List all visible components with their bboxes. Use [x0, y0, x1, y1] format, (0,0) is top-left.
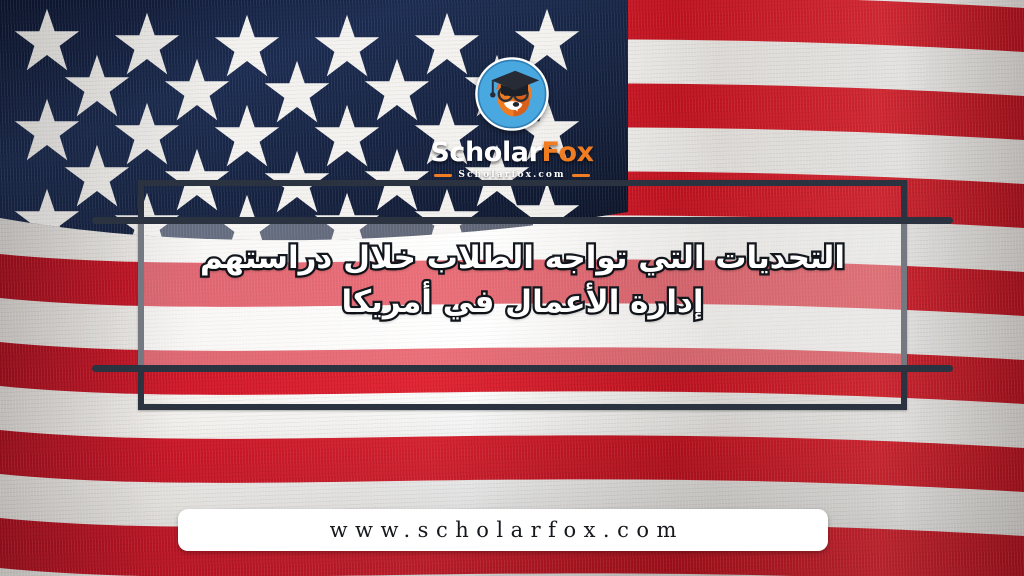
brand-logo[interactable]: ScholarFox Scholarfox.com — [0, 54, 1024, 180]
title-line-2: إدارة الأعمال في أمريكا — [160, 280, 885, 324]
brand-word-scholar: Scholar — [430, 137, 541, 168]
title-line-1: التحديات التي تواجه الطلاب خلال دراستهم — [160, 236, 885, 280]
tagline-text: Scholarfox.com — [458, 170, 565, 180]
frame-rule-top — [92, 217, 953, 224]
brand-wordmark: ScholarFox — [430, 139, 593, 166]
brand-word-fox: Fox — [542, 137, 594, 168]
fox-graduate-icon — [472, 54, 552, 134]
frame-rule-bottom — [92, 365, 953, 372]
website-url-text: www.scholarfox.com — [322, 518, 684, 542]
tagline-dash-left — [434, 174, 452, 177]
tagline-dash-right — [572, 174, 590, 177]
poster-canvas: ScholarFox Scholarfox.com التحديات التي … — [0, 0, 1024, 576]
brand-tagline: Scholarfox.com — [434, 170, 589, 180]
page-title: التحديات التي تواجه الطلاب خلال دراستهم … — [160, 236, 885, 324]
website-url-badge[interactable]: www.scholarfox.com — [178, 509, 828, 551]
